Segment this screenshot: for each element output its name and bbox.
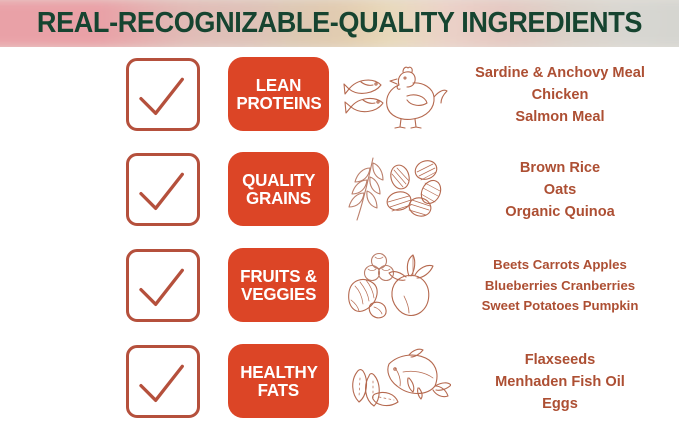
header-banner: REAL-RECOGNIZABLE-QUALITY INGREDIENTS <box>0 0 679 47</box>
ingredient-line: Flaxseeds <box>525 349 596 371</box>
ingredient-list-healthy-fats: Flaxseeds Menhaden Fish Oil Eggs <box>446 342 674 422</box>
ingredient-line: Menhaden Fish Oil <box>495 371 625 393</box>
page-title: REAL-RECOGNIZABLE-QUALITY INGREDIENTS <box>17 0 662 47</box>
badge-line-2: PROTEINS <box>236 94 321 112</box>
ingredient-rows: LEAN PROTEINS <box>0 47 679 429</box>
ingredient-line: Organic Quinoa <box>505 201 614 223</box>
checkbox-checked-quality-grains[interactable] <box>126 153 200 226</box>
ingredient-line: Beets Carrots Apples <box>493 255 627 275</box>
checkbox-checked-healthy-fats[interactable] <box>126 345 200 418</box>
ingredient-row-fruits-veggies: FRUITS & VEGGIES <box>0 238 679 333</box>
ingredient-list-fruits-veggies: Beets Carrots Apples Blueberries Cranber… <box>446 246 674 326</box>
fruits-veggies-illustration <box>343 246 451 326</box>
ingredient-list-lean-proteins: Sardine & Anchovy Meal Chicken Salmon Me… <box>446 55 674 135</box>
ingredient-line: Blueberries Cranberries <box>485 276 635 296</box>
ingredient-row-healthy-fats: HEALTHY FATS <box>0 334 679 429</box>
ingredient-line: Oats <box>544 179 576 201</box>
badge-line-1: QUALITY <box>242 171 315 189</box>
ingredient-list-quality-grains: Brown Rice Oats Organic Quinoa <box>446 150 674 230</box>
ingredient-line: Chicken <box>532 84 589 106</box>
ingredient-line: Brown Rice <box>520 157 600 179</box>
ingredient-row-quality-grains: QUALITY GRAINS <box>0 142 679 237</box>
ingredient-line: Sweet Potatoes Pumpkin <box>482 296 639 316</box>
checkbox-checked-lean-proteins[interactable] <box>126 58 200 131</box>
badge-line-1: FRUITS & <box>240 267 317 285</box>
badge-line-1: LEAN <box>256 76 301 94</box>
badge-lean-proteins[interactable]: LEAN PROTEINS <box>228 57 329 131</box>
badge-line-2: FATS <box>258 381 299 399</box>
badge-line-2: GRAINS <box>246 189 311 207</box>
checkbox-checked-fruits-veggies[interactable] <box>126 249 200 322</box>
fish-and-chicken-illustration <box>343 55 451 135</box>
badge-line-1: HEALTHY <box>240 363 318 381</box>
ingredient-row-lean-proteins: LEAN PROTEINS <box>0 47 679 142</box>
ingredient-line: Eggs <box>542 393 578 415</box>
badge-quality-grains[interactable]: QUALITY GRAINS <box>228 152 329 226</box>
ingredients-infographic: REAL-RECOGNIZABLE-QUALITY INGREDIENTS LE… <box>0 0 679 429</box>
ingredient-line: Salmon Meal <box>515 106 604 128</box>
ingredient-line: Sardine & Anchovy Meal <box>475 62 645 84</box>
badge-healthy-fats[interactable]: HEALTHY FATS <box>228 344 329 418</box>
badge-line-2: VEGGIES <box>241 285 316 303</box>
badge-fruits-veggies[interactable]: FRUITS & VEGGIES <box>228 248 329 322</box>
grains-illustration <box>343 150 451 230</box>
seeds-and-fish-illustration <box>343 342 451 422</box>
